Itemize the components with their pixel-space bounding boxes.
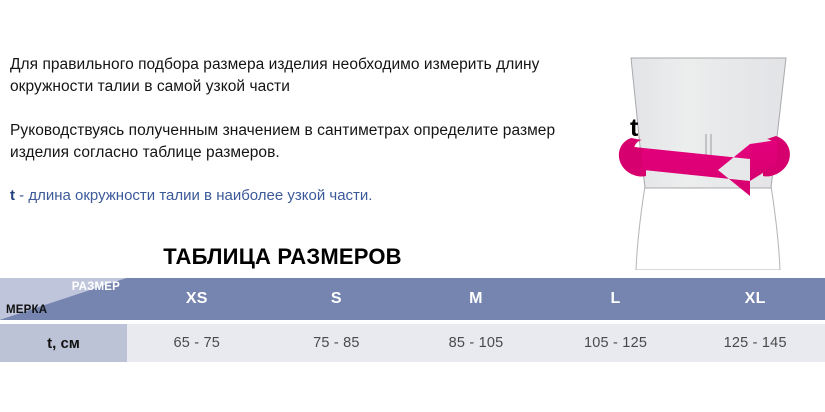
cell-m-range: 85 - 105 [406, 324, 546, 362]
table-header-size-m: M [406, 278, 546, 320]
table-header-size-xl: XL [685, 278, 825, 320]
cell-l-range: 105 - 125 [546, 324, 686, 362]
instructions-panel: Для правильного подбора размера изделия … [10, 54, 590, 206]
waist-measurement-illustration: t [590, 18, 825, 270]
cell-s-range: 75 - 85 [267, 324, 407, 362]
table-corner-cell: РАЗМЕР МЕРКА [0, 278, 127, 320]
cell-xs-range: 65 - 75 [127, 324, 267, 362]
table-header-size-xs: XS [127, 278, 267, 320]
corner-label-measure: МЕРКА [6, 304, 47, 316]
measure-label-t: t [630, 116, 638, 141]
table-header-row: РАЗМЕР МЕРКА XS S M L XL [0, 278, 825, 320]
table-header-size-l: L [546, 278, 686, 320]
measurement-note: t - длина окружности талии в наиболее уз… [10, 186, 590, 206]
instruction-paragraph-1: Для правильного подбора размера изделия … [10, 54, 590, 98]
page-title: ТАБЛИЦА РАЗМЕРОВ [0, 244, 565, 270]
hips-shape [636, 186, 780, 270]
row-label-t-cm: t, см [0, 324, 127, 362]
measurement-note-text: - длина окружности талии в наиболее узко… [15, 187, 372, 204]
table-row: t, см 65 - 75 75 - 85 85 - 105 105 - 125… [0, 324, 825, 362]
size-table: РАЗМЕР МЕРКА XS S M L XL t, см 65 - 75 7… [0, 278, 825, 362]
instruction-paragraph-2: Руководствуясь полученным значением в са… [10, 120, 590, 164]
table-header-size-s: S [267, 278, 407, 320]
corner-label-size: РАЗМЕР [72, 281, 120, 293]
cell-xl-range: 125 - 145 [685, 324, 825, 362]
torso-diagram-svg [590, 18, 825, 270]
